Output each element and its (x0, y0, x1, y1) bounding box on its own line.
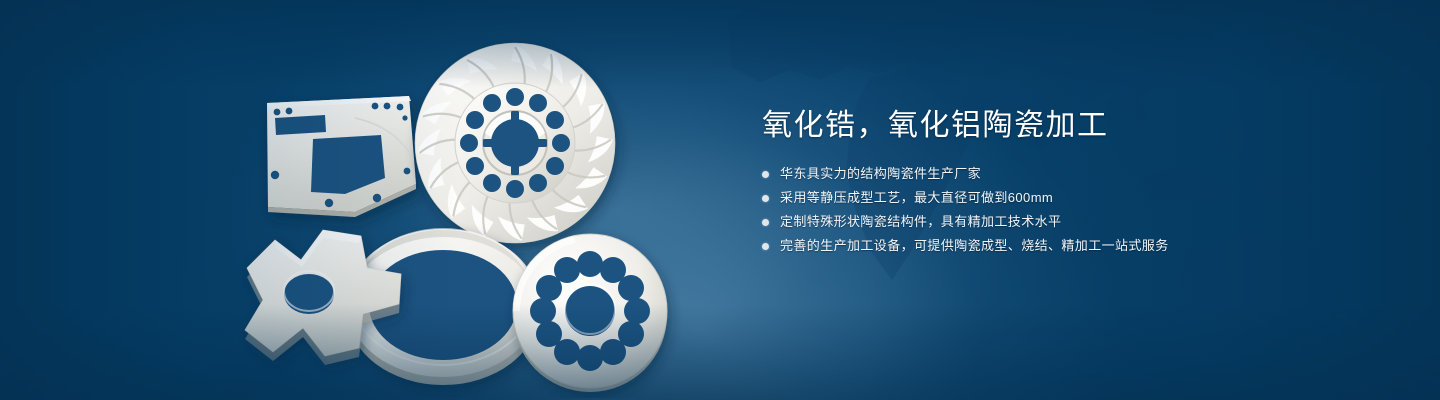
list-item: 采用等静压成型工艺，最大直径可做到600mm (762, 190, 1382, 206)
banner-headline: 氧化锆，氧化铝陶瓷加工 (762, 108, 1382, 144)
bullet-dot-icon (762, 171, 769, 178)
feature-text: 定制特殊形状陶瓷结构件，具有精加工技术水平 (780, 214, 1061, 230)
bullet-dot-icon (762, 243, 769, 250)
list-item: 华东具实力的结构陶瓷件生产厂家 (762, 166, 1382, 182)
bullet-dot-icon (762, 195, 769, 202)
bullet-dot-icon (762, 219, 769, 226)
list-item: 完善的生产加工设备，可提供陶瓷成型、烧结、精加工一站式服务 (762, 238, 1382, 254)
feature-text: 完善的生产加工设备，可提供陶瓷成型、烧结、精加工一站式服务 (780, 238, 1169, 254)
feature-list: 华东具实力的结构陶瓷件生产厂家 采用等静压成型工艺，最大直径可做到600mm 定… (762, 166, 1382, 254)
feature-text: 采用等静压成型工艺，最大直径可做到600mm (780, 190, 1053, 206)
banner-copy: 氧化锆，氧化铝陶瓷加工 华东具实力的结构陶瓷件生产厂家 采用等静压成型工艺，最大… (762, 108, 1382, 262)
feature-text: 华东具实力的结构陶瓷件生产厂家 (780, 166, 981, 182)
promo-banner: 氧化锆，氧化铝陶瓷加工 华东具实力的结构陶瓷件生产厂家 采用等静压成型工艺，最大… (0, 0, 1440, 400)
list-item: 定制特殊形状陶瓷结构件，具有精加工技术水平 (762, 214, 1382, 230)
